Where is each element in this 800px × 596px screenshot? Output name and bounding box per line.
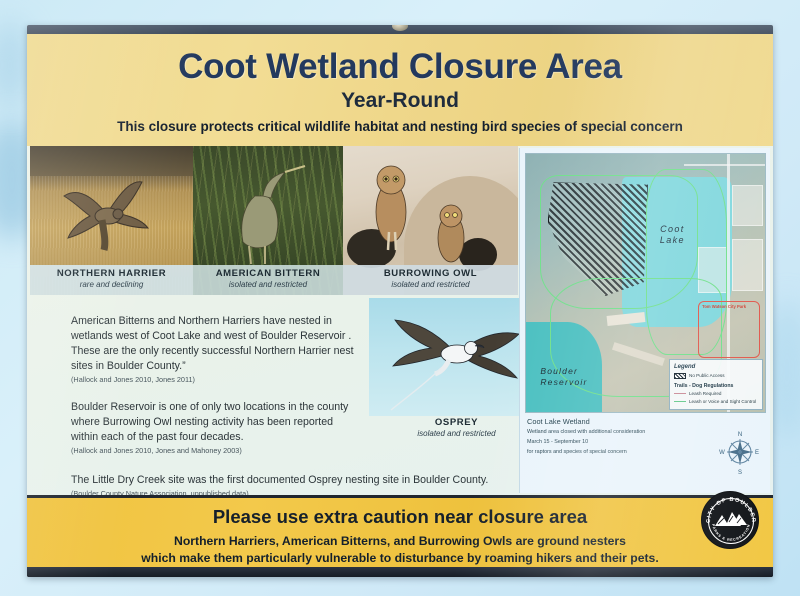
coot-lake-label-line1: Coot <box>660 224 685 236</box>
bird-name: AMERICAN BITTERN <box>195 269 341 279</box>
footer-line-2: Northern Harriers, American Bitterns, an… <box>27 533 773 549</box>
paragraph-text: American Bitterns and Northern Harriers … <box>71 314 356 374</box>
photo-burrowing-owl: BURROWING OWL isolated and restricted <box>343 146 518 295</box>
map-legend: Legend No Public Access Trails - Dog Reg… <box>669 359 763 410</box>
city-park-label: Tom Watson City Park <box>702 304 746 309</box>
sign-header: Coot Wetland Closure Area Year-Round Thi… <box>27 34 773 146</box>
boulder-reservoir-label: Boulder Reservoir <box>540 366 587 388</box>
photo-caption: AMERICAN BITTERN isolated and restricted <box>193 265 343 295</box>
photo-osprey <box>369 298 544 416</box>
legend-label: Leash or Voice and Sight Control <box>689 399 756 405</box>
legend-item-voice-control: Leash or Voice and Sight Control <box>674 399 758 405</box>
compass-south-label: S <box>738 470 742 476</box>
city-of-boulder-logo: CITY OF BOULDER PARKS & RECREATION <box>701 491 759 549</box>
map-panel: Tom Watson City Park Coot Lake Boulder R… <box>519 148 770 493</box>
photo-caption: BURROWING OWL isolated and restricted <box>343 265 518 295</box>
parcel <box>732 185 763 226</box>
compass-east-label: E <box>755 450 759 456</box>
legend-item-leash-required: Leash Required <box>674 391 758 397</box>
line-swatch-icon <box>674 393 686 394</box>
bird-name: NORTHERN HARRIER <box>32 269 191 279</box>
legend-trails-heading: Trails - Dog Regulations <box>674 383 758 389</box>
bird-status: isolated and restricted <box>195 280 341 290</box>
page-title: Coot Wetland Closure Area <box>27 49 773 84</box>
compass-north-label: N <box>738 432 742 438</box>
sign-main-body: NORTHERN HARRIER rare and declining <box>27 146 773 495</box>
paragraph-bitterns-harriers: American Bitterns and Northern Harriers … <box>71 314 356 384</box>
reservoir-label-line2: Reservoir <box>540 377 587 388</box>
bird-status: isolated and restricted <box>345 280 516 290</box>
compass-rose-icon: N E S W <box>716 424 764 476</box>
bird-name: OSPREY <box>369 418 544 428</box>
legend-label: No Public Access <box>689 373 725 379</box>
paragraph-text: Boulder Reservoir is one of only two loc… <box>71 400 356 445</box>
bird-status: rare and declining <box>32 280 191 290</box>
compass-west-label: W <box>719 450 725 456</box>
citation: (Hallock and Jones 2010, Jones and Mahon… <box>71 446 356 455</box>
bird-name: BURROWING OWL <box>345 269 516 279</box>
paragraph-burrowing-owl: Boulder Reservoir is one of only two loc… <box>71 400 356 455</box>
footer-headline: Please use extra caution near closure ar… <box>27 507 773 527</box>
coot-lake-label: Coot Lake <box>660 224 685 247</box>
bird-photo-strip: NORTHERN HARRIER rare and declining <box>30 146 518 295</box>
tom-watson-city-park-boundary: Tom Watson City Park <box>698 301 760 358</box>
interpretive-sign-board: Coot Wetland Closure Area Year-Round Thi… <box>27 25 773 577</box>
photo-caption: NORTHERN HARRIER rare and declining <box>30 265 193 295</box>
legend-label: Leash Required <box>689 391 721 397</box>
map-caption: Coot Lake Wetland Wetland area closed wi… <box>527 418 687 456</box>
sign-bottom-frame <box>27 567 773 577</box>
background-blur-upper-left <box>0 20 30 110</box>
line-swatch-icon <box>674 401 686 402</box>
header-subtitle: Year-Round <box>27 90 773 111</box>
citation: (Hallock and Jones 2010, Jones 2011) <box>71 375 356 384</box>
hatch-swatch-icon <box>674 373 686 379</box>
map-caption-title: Coot Lake Wetland <box>527 418 687 427</box>
parcel <box>732 239 763 291</box>
road-horizontal <box>684 164 765 166</box>
legend-item-no-public-access: No Public Access <box>674 373 758 379</box>
body-text-column: American Bitterns and Northern Harriers … <box>71 314 356 464</box>
map-caption-line2: March 15 - September 10 <box>527 439 687 447</box>
sign-footer: Please use extra caution near closure ar… <box>27 495 773 567</box>
photo-american-bittern: AMERICAN BITTERN isolated and restricted <box>193 146 343 295</box>
photo-caption-osprey: OSPREY isolated and restricted <box>369 416 544 439</box>
map-caption-line3: for raptors and species of special conce… <box>527 449 687 457</box>
coot-lake-label-line2: Lake <box>660 235 685 247</box>
legend-title: Legend <box>674 364 758 370</box>
photo-northern-harrier: NORTHERN HARRIER rare and declining <box>30 146 193 295</box>
header-tagline: This closure protects critical wildlife … <box>27 120 773 134</box>
footer-line-3: which make them particularly vulnerable … <box>27 550 773 566</box>
osprey-photo <box>369 298 544 416</box>
map-caption-line1: Wetland area closed with additional cons… <box>527 429 687 437</box>
reservoir-label-line1: Boulder <box>540 366 587 377</box>
paragraph-text: The Little Dry Creek site was the first … <box>71 473 501 488</box>
bird-status: isolated and restricted <box>369 429 544 439</box>
aerial-map-image[interactable]: Tom Watson City Park Coot Lake Boulder R… <box>525 153 766 413</box>
